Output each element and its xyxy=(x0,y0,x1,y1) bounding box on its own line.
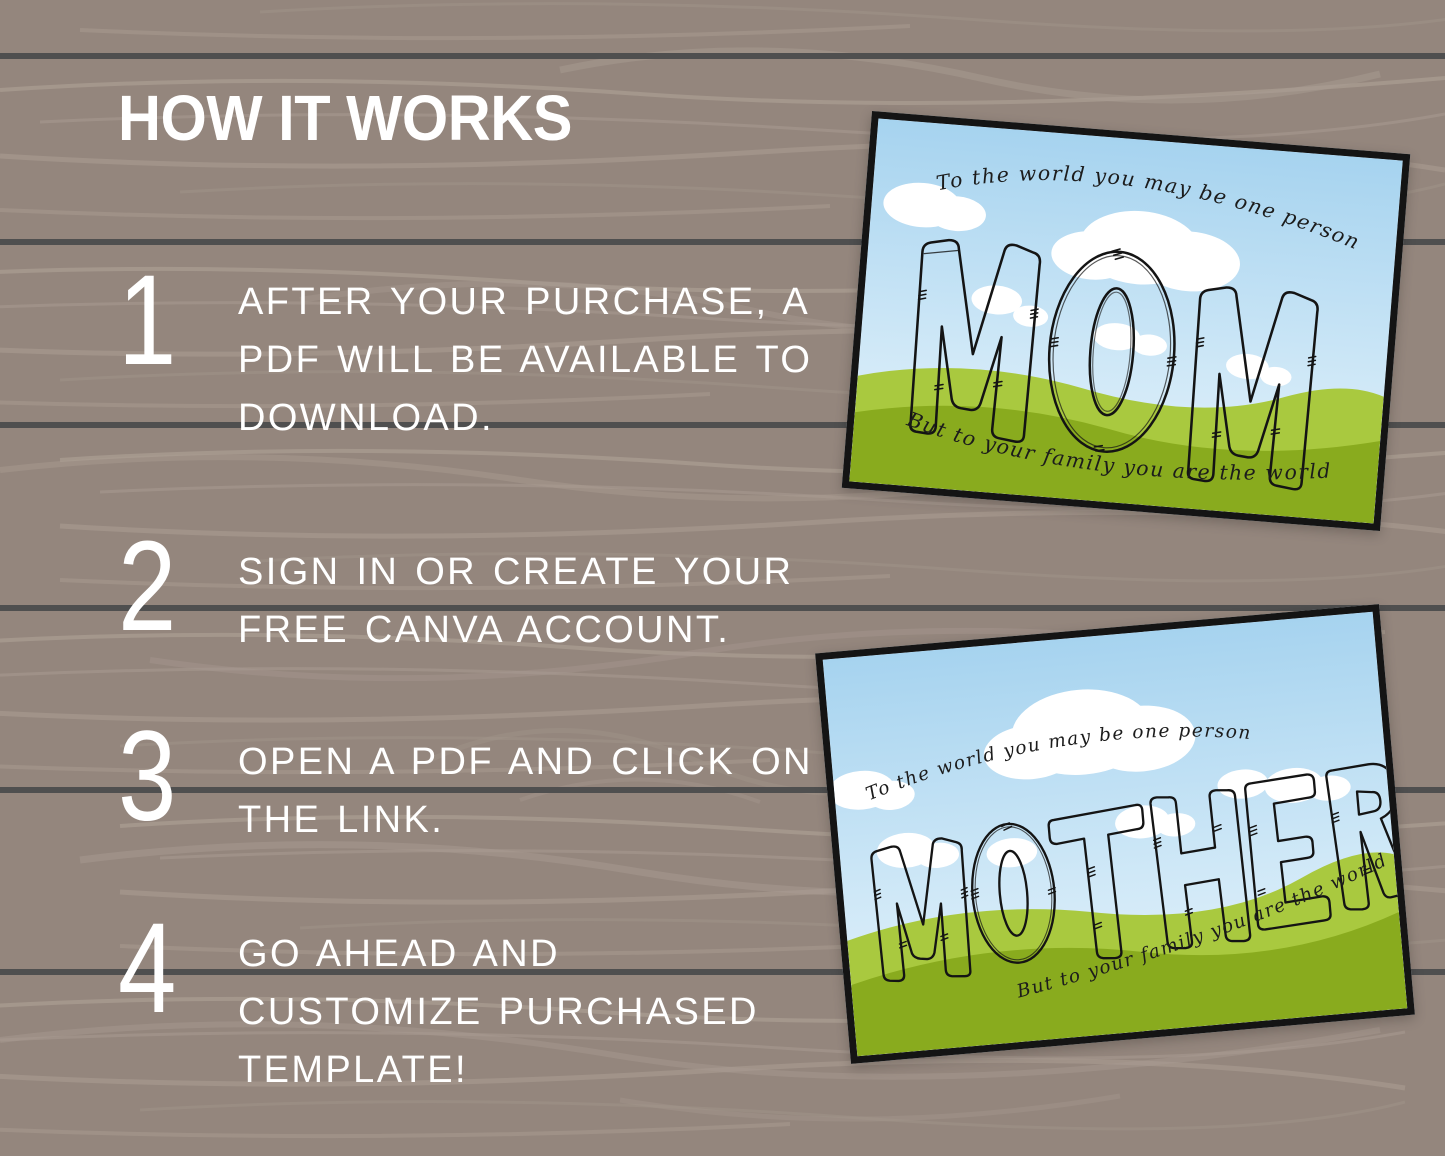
mother-card-preview[interactable]: To the world you may be one person But t… xyxy=(815,604,1415,1064)
step-item-3: 3 OPEN A PDF AND CLICK ON THE LINK. xyxy=(118,718,818,850)
step-text-2: SIGN IN OR CREATE YOUR FREE CANVA ACCOUN… xyxy=(238,528,818,660)
step-number-4: 4 xyxy=(118,910,216,1028)
step-number-3: 3 xyxy=(118,718,216,836)
step-text-1: AFTER YOUR PURCHASE, A PDF WILL BE AVAIL… xyxy=(238,262,818,447)
page-title: HOW IT WORKS xyxy=(118,86,572,150)
step-item-4: 4 GO AHEAD AND CUSTOMIZE PURCHASED TEMPL… xyxy=(118,910,818,1099)
step-text-3: OPEN A PDF AND CLICK ON THE LINK. xyxy=(238,718,818,850)
step-number-1: 1 xyxy=(118,262,216,380)
step-item-2: 2 SIGN IN OR CREATE YOUR FREE CANVA ACCO… xyxy=(118,528,818,660)
mom-card-preview[interactable]: To the world you may be one person But t… xyxy=(842,111,1411,531)
step-number-2: 2 xyxy=(118,528,216,646)
step-item-1: 1 AFTER YOUR PURCHASE, A PDF WILL BE AVA… xyxy=(118,262,818,447)
step-text-4: GO AHEAD AND CUSTOMIZE PURCHASED TEMPLAT… xyxy=(238,910,818,1099)
instructions-column: HOW IT WORKS 1 AFTER YOUR PURCHASE, A PD… xyxy=(0,0,830,1156)
